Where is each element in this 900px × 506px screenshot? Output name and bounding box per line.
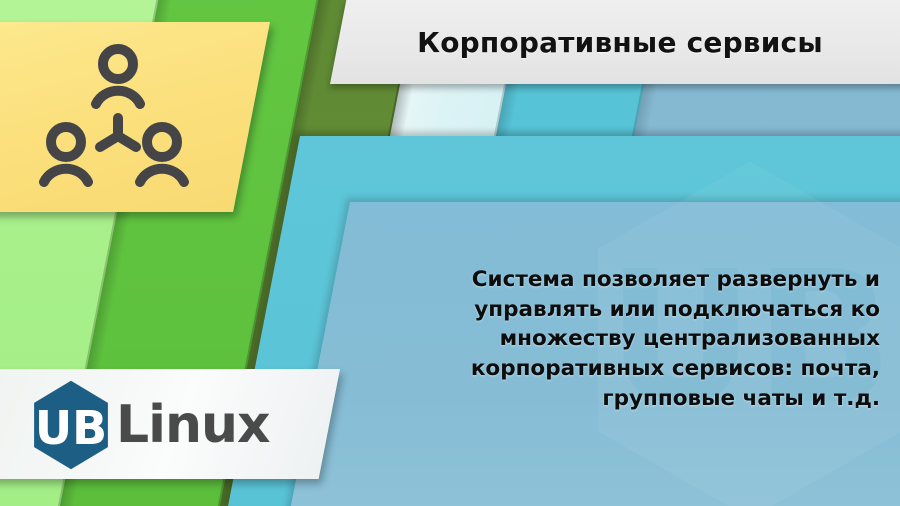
- slide-root: UB Корпоративные сервисы: [0, 0, 900, 506]
- logo-wordmark: Linux: [116, 399, 270, 451]
- group-people-icon: [38, 42, 198, 192]
- body-text: Система позволяет развернуть и управлять…: [470, 265, 880, 413]
- page-title: Корпоративные сервисы: [340, 0, 900, 84]
- ub-hexagon-icon: UB: [30, 379, 112, 471]
- svg-text:UB: UB: [35, 401, 107, 455]
- brand-logo: UB Linux: [30, 375, 300, 475]
